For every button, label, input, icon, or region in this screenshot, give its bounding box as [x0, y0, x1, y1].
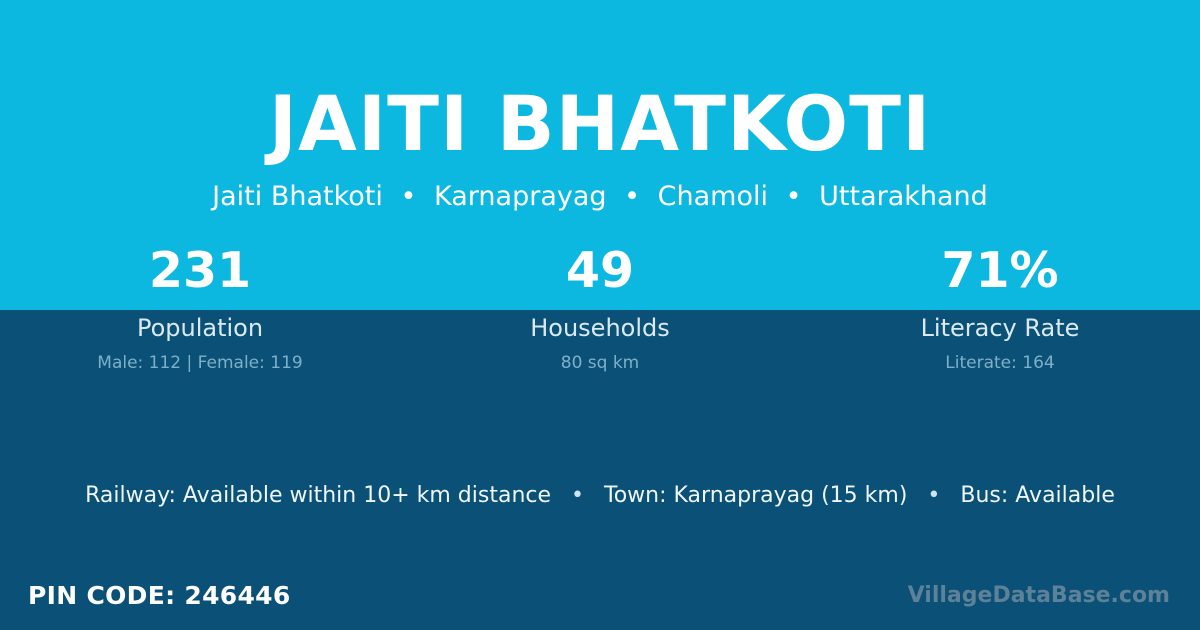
- breadcrumb-separator: •: [392, 182, 426, 212]
- transport-item-railway: Railway: Available within 10+ km distanc…: [85, 483, 551, 508]
- stat-population: 231 Population Male: 112 | Female: 119: [0, 246, 400, 372]
- breadcrumb-item-state: Uttarakhand: [819, 181, 988, 212]
- transport-item-bus: Bus: Available: [960, 483, 1114, 508]
- breadcrumb-separator: •: [777, 182, 811, 212]
- page-title: JAITI BHATKOTI: [0, 0, 1200, 162]
- village-info-card: JAITI BHATKOTI Jaiti Bhatkoti • Karnapra…: [0, 0, 1200, 630]
- transport-item-town: Town: Karnaprayag (15 km): [604, 483, 907, 508]
- stat-sublabel: 80 sq km: [400, 355, 800, 372]
- stat-label: Literacy Rate: [800, 316, 1200, 340]
- stat-label: Households: [400, 316, 800, 340]
- breadcrumb: Jaiti Bhatkoti • Karnaprayag • Chamoli •…: [0, 162, 1200, 212]
- pin-code: PIN CODE: 246446: [0, 583, 291, 608]
- stat-sublabel: Male: 112 | Female: 119: [0, 355, 400, 372]
- header: JAITI BHATKOTI Jaiti Bhatkoti • Karnapra…: [0, 0, 1200, 212]
- stat-literacy-rate: 71% Literacy Rate Literate: 164: [800, 246, 1200, 372]
- stat-sublabel: Literate: 164: [800, 355, 1200, 372]
- site-watermark: VillageDataBase.com: [908, 585, 1200, 607]
- stat-households: 49 Households 80 sq km: [400, 246, 800, 372]
- stat-value: 71%: [800, 246, 1200, 295]
- footer: PIN CODE: 246446 VillageDataBase.com: [0, 573, 1200, 618]
- stat-value: 231: [0, 246, 400, 295]
- breadcrumb-item-village: Jaiti Bhatkoti: [212, 181, 383, 212]
- breadcrumb-item-district: Chamoli: [658, 181, 768, 212]
- stat-label: Population: [0, 316, 400, 340]
- stat-value: 49: [400, 246, 800, 295]
- breadcrumb-separator: •: [615, 182, 649, 212]
- transport-separator: •: [914, 484, 953, 508]
- breadcrumb-item-block: Karnaprayag: [434, 181, 607, 212]
- transport-info: Railway: Available within 10+ km distanc…: [0, 484, 1200, 508]
- stats-row: 231 Population Male: 112 | Female: 119 4…: [0, 246, 1200, 372]
- transport-separator: •: [558, 484, 597, 508]
